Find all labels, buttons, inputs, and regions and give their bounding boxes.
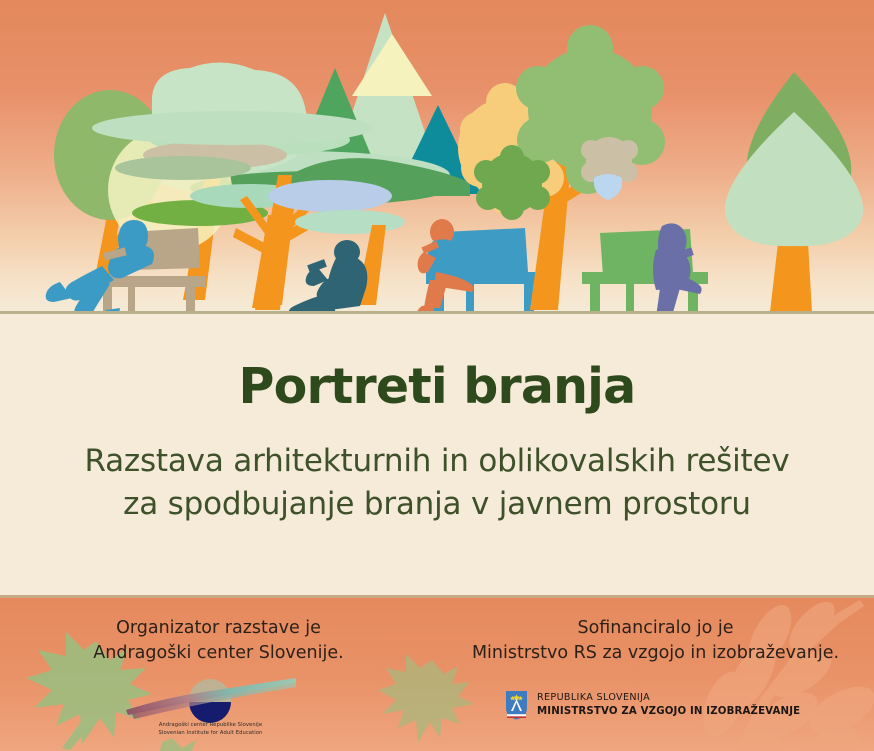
acs-logo: Andragoški center Republike Slovenije Sl… xyxy=(118,676,303,738)
page-subtitle-line-1: Razstava arhitekturnih in oblikovalskih … xyxy=(0,440,874,483)
funder-text: Sofinanciralo jo je Ministrstvo RS za vz… xyxy=(437,598,874,666)
ministry-name-label: MINISTRSTVO ZA VZGOJO IN IZOBRAŽEVANJE xyxy=(537,705,800,719)
ministry-republic-label: REPUBLIKA SLOVENIJA xyxy=(537,692,800,705)
title-band: Portreti branja Razstava arhitekturnih i… xyxy=(0,314,874,597)
footer-column-funder: Sofinanciralo jo je Ministrstvo RS za vz… xyxy=(437,598,874,751)
canopy-mint-under-blue xyxy=(295,210,405,234)
acs-caption-line-1: Andragoški center Republike Slovenije xyxy=(118,722,303,730)
footer-band: Organizator razstave je Andragoški cente… xyxy=(0,598,874,751)
slovenia-coat-of-arms-icon xyxy=(505,690,528,720)
acs-logo-caption: Andragoški center Republike Slovenije Sl… xyxy=(118,722,303,738)
organizer-text: Organizator razstave je Andragoški cente… xyxy=(0,598,437,666)
tree-conifer-cream xyxy=(352,34,432,96)
funder-line-2: Ministrstvo RS za vzgojo in izobraževanj… xyxy=(437,641,874,666)
figure-reader-teal-ground xyxy=(289,240,368,313)
canopy-blue-flat xyxy=(268,180,392,212)
acs-logo-mark xyxy=(118,676,303,726)
page-subtitle: Razstava arhitekturnih in oblikovalskih … xyxy=(0,412,874,526)
park-scene-svg xyxy=(0,0,874,313)
canopy-flat-sage xyxy=(115,156,251,180)
illustration-park-scene xyxy=(0,0,874,313)
poster-root: Portreti branja Razstava arhitekturnih i… xyxy=(0,0,874,751)
blossom-blue-small xyxy=(594,174,622,200)
ministry-logo-text: REPUBLIKA SLOVENIJA MINISTRSTVO ZA VZGOJ… xyxy=(537,692,800,719)
acs-caption-line-2: Slovenian Institute for Adult Education xyxy=(118,730,303,738)
canopy-heart-mint-inner xyxy=(725,112,863,246)
canopy-wide-mint-upper xyxy=(92,111,372,145)
funder-line-1: Sofinanciralo jo je xyxy=(437,616,874,641)
ministry-logo: REPUBLIKA SLOVENIJA MINISTRSTVO ZA VZGOJ… xyxy=(505,690,800,720)
organizer-line-1: Organizator razstave je xyxy=(0,616,437,641)
page-subtitle-line-2: za spodbujanje branja v javnem prostoru xyxy=(0,483,874,526)
organizer-line-2: Andragoški center Slovenije. xyxy=(0,641,437,666)
page-title: Portreti branja xyxy=(0,314,874,412)
